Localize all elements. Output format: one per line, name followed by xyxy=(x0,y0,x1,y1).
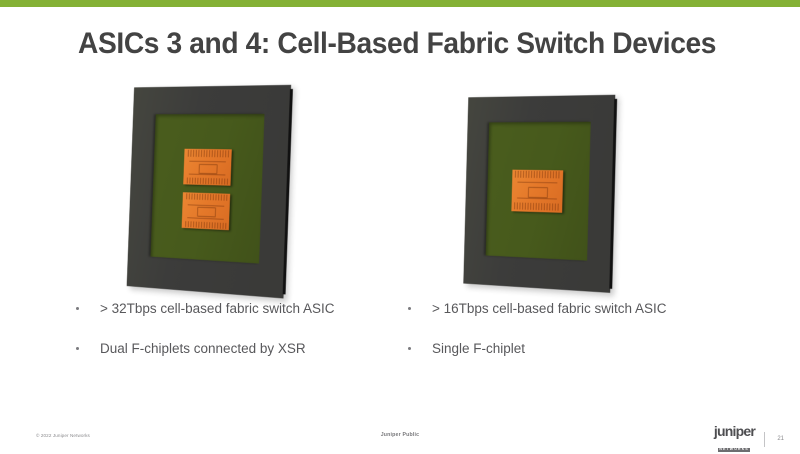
asic-3-package-graphic xyxy=(118,86,294,292)
die-pad-row-icon xyxy=(187,150,228,157)
bullet-text: > 16Tbps cell-based fabric switch ASIC xyxy=(432,300,738,318)
package-frame xyxy=(463,95,615,293)
die-core-icon xyxy=(199,163,218,173)
package-edge xyxy=(283,89,293,294)
bullet-dot-icon xyxy=(408,347,411,350)
die-pad-row-icon xyxy=(514,202,559,210)
bullet-text: Dual F-chiplets connected by XSR xyxy=(100,340,406,358)
die-trace-icon xyxy=(187,218,224,221)
die-trace-icon xyxy=(189,161,226,163)
list-item: > 16Tbps cell-based fabric switch ASIC xyxy=(408,300,738,318)
page-title: ASICs 3 and 4: Cell-Based Fabric Switch … xyxy=(78,27,718,61)
die-pad-row-icon xyxy=(186,177,227,184)
bullet-text: > 32Tbps cell-based fabric switch ASIC xyxy=(100,300,406,318)
die-trace-icon xyxy=(517,198,558,200)
die-chiplet-b xyxy=(182,192,230,230)
die-trace-icon xyxy=(189,174,226,176)
bullet-dot-icon xyxy=(408,307,411,310)
package-substrate xyxy=(486,122,591,261)
list-item: Dual F-chiplets connected by XSR xyxy=(76,340,406,358)
bullet-dot-icon xyxy=(76,347,79,350)
die-chiplet-a xyxy=(511,169,563,212)
bullet-dot-icon xyxy=(76,307,79,310)
package-frame xyxy=(127,85,291,299)
bullet-list-asic-4: > 16Tbps cell-based fabric switch ASIC S… xyxy=(408,300,738,379)
die-pad-row-icon xyxy=(186,194,227,202)
bullet-text: Single F-chiplet xyxy=(432,340,738,358)
die-trace-icon xyxy=(187,204,224,206)
package-edge xyxy=(609,99,617,289)
footer-divider xyxy=(764,432,765,447)
page-number: 21 xyxy=(774,436,784,442)
bullet-list-asic-3: > 32Tbps cell-based fabric switch ASIC D… xyxy=(76,300,406,379)
slide-canvas: { "theme": { "accent_green": "#84b135", … xyxy=(0,0,800,450)
die-chiplet-a xyxy=(184,149,232,187)
list-item: > 32Tbps cell-based fabric switch ASIC xyxy=(76,300,406,318)
package-substrate xyxy=(151,114,265,264)
die-trace-icon xyxy=(517,182,558,184)
juniper-logo-wordmark: juniper xyxy=(714,424,755,438)
footer-classification: Juniper Public xyxy=(0,432,800,438)
asic-4-package-graphic xyxy=(456,96,618,288)
top-accent-bar xyxy=(0,0,800,7)
die-core-icon xyxy=(197,207,216,218)
die-pad-row-icon xyxy=(515,171,560,179)
die-core-icon xyxy=(528,186,548,198)
list-item: Single F-chiplet xyxy=(408,340,738,358)
die-pad-row-icon xyxy=(185,221,226,229)
